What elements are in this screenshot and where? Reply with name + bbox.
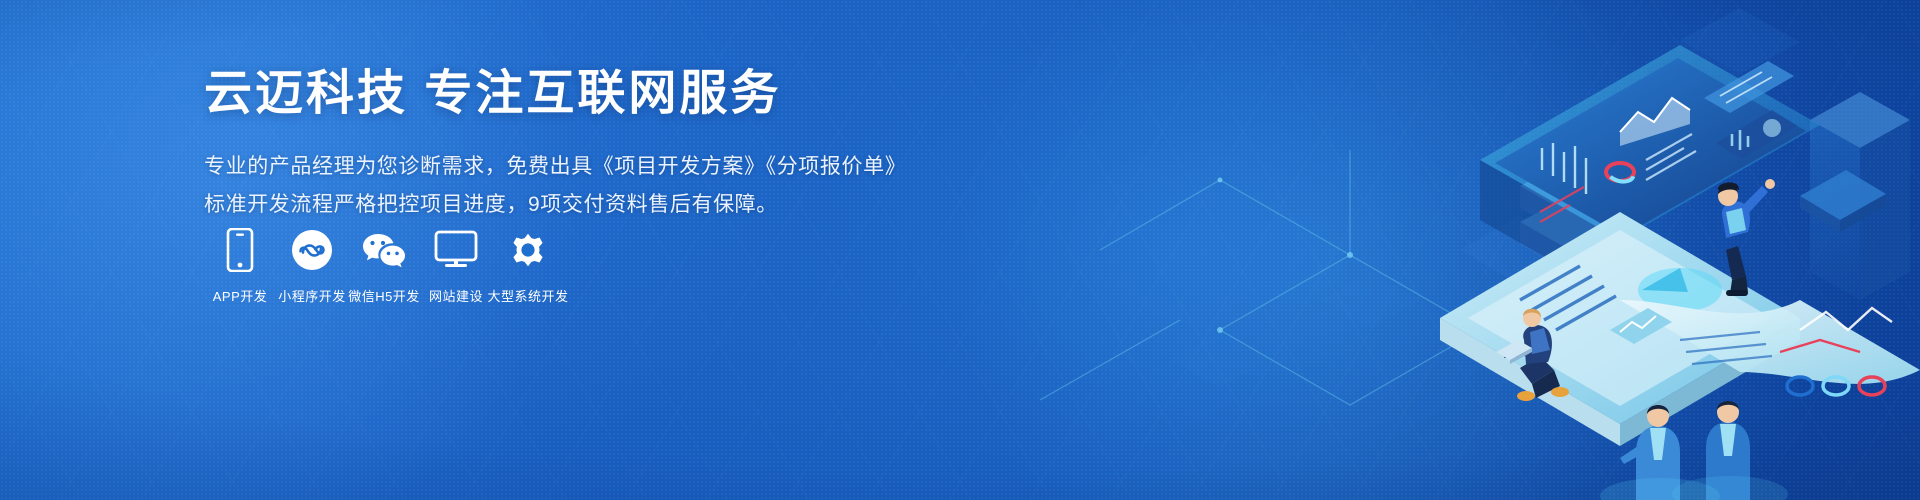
service-item-website[interactable]: 网站建设 (420, 228, 492, 305)
service-item-wechat-h5[interactable]: 微信H5开发 (348, 228, 420, 305)
service-item-large-system[interactable]: 大型系统开发 (492, 228, 564, 305)
mini-program-icon (291, 228, 333, 272)
service-label: APP开发 (213, 286, 268, 305)
phone-icon (225, 228, 255, 272)
promo-banner: 云迈科技 专注互联网服务 专业的产品经理为您诊断需求，免费出具《项目开发方案》《… (0, 0, 1920, 500)
service-label: 小程序开发 (278, 286, 346, 305)
service-item-miniprogram[interactable]: 小程序开发 (276, 228, 348, 305)
wechat-icon (361, 228, 407, 272)
service-label: 网站建设 (429, 286, 483, 305)
gear-icon (507, 228, 549, 272)
banner-copy: 云迈科技 专注互联网服务 专业的产品经理为您诊断需求，免费出具《项目开发方案》《… (204, 66, 924, 223)
subtitle-line-2: 标准开发流程严格把控项目进度，9项交付资料售后有保障。 (204, 187, 924, 223)
service-list: APP开发 小程序开发 (204, 228, 564, 305)
service-label: 微信H5开发 (348, 286, 420, 305)
monitor-icon (434, 228, 478, 272)
service-label: 大型系统开发 (488, 286, 569, 305)
page-title: 云迈科技 专注互联网服务 (204, 66, 924, 123)
subtitle-line-1: 专业的产品经理为您诊断需求，免费出具《项目开发方案》《分项报价单》 (204, 149, 924, 185)
isometric-illustration (920, 0, 1920, 500)
service-item-app[interactable]: APP开发 (204, 228, 276, 305)
platform-glows (1600, 476, 1788, 500)
